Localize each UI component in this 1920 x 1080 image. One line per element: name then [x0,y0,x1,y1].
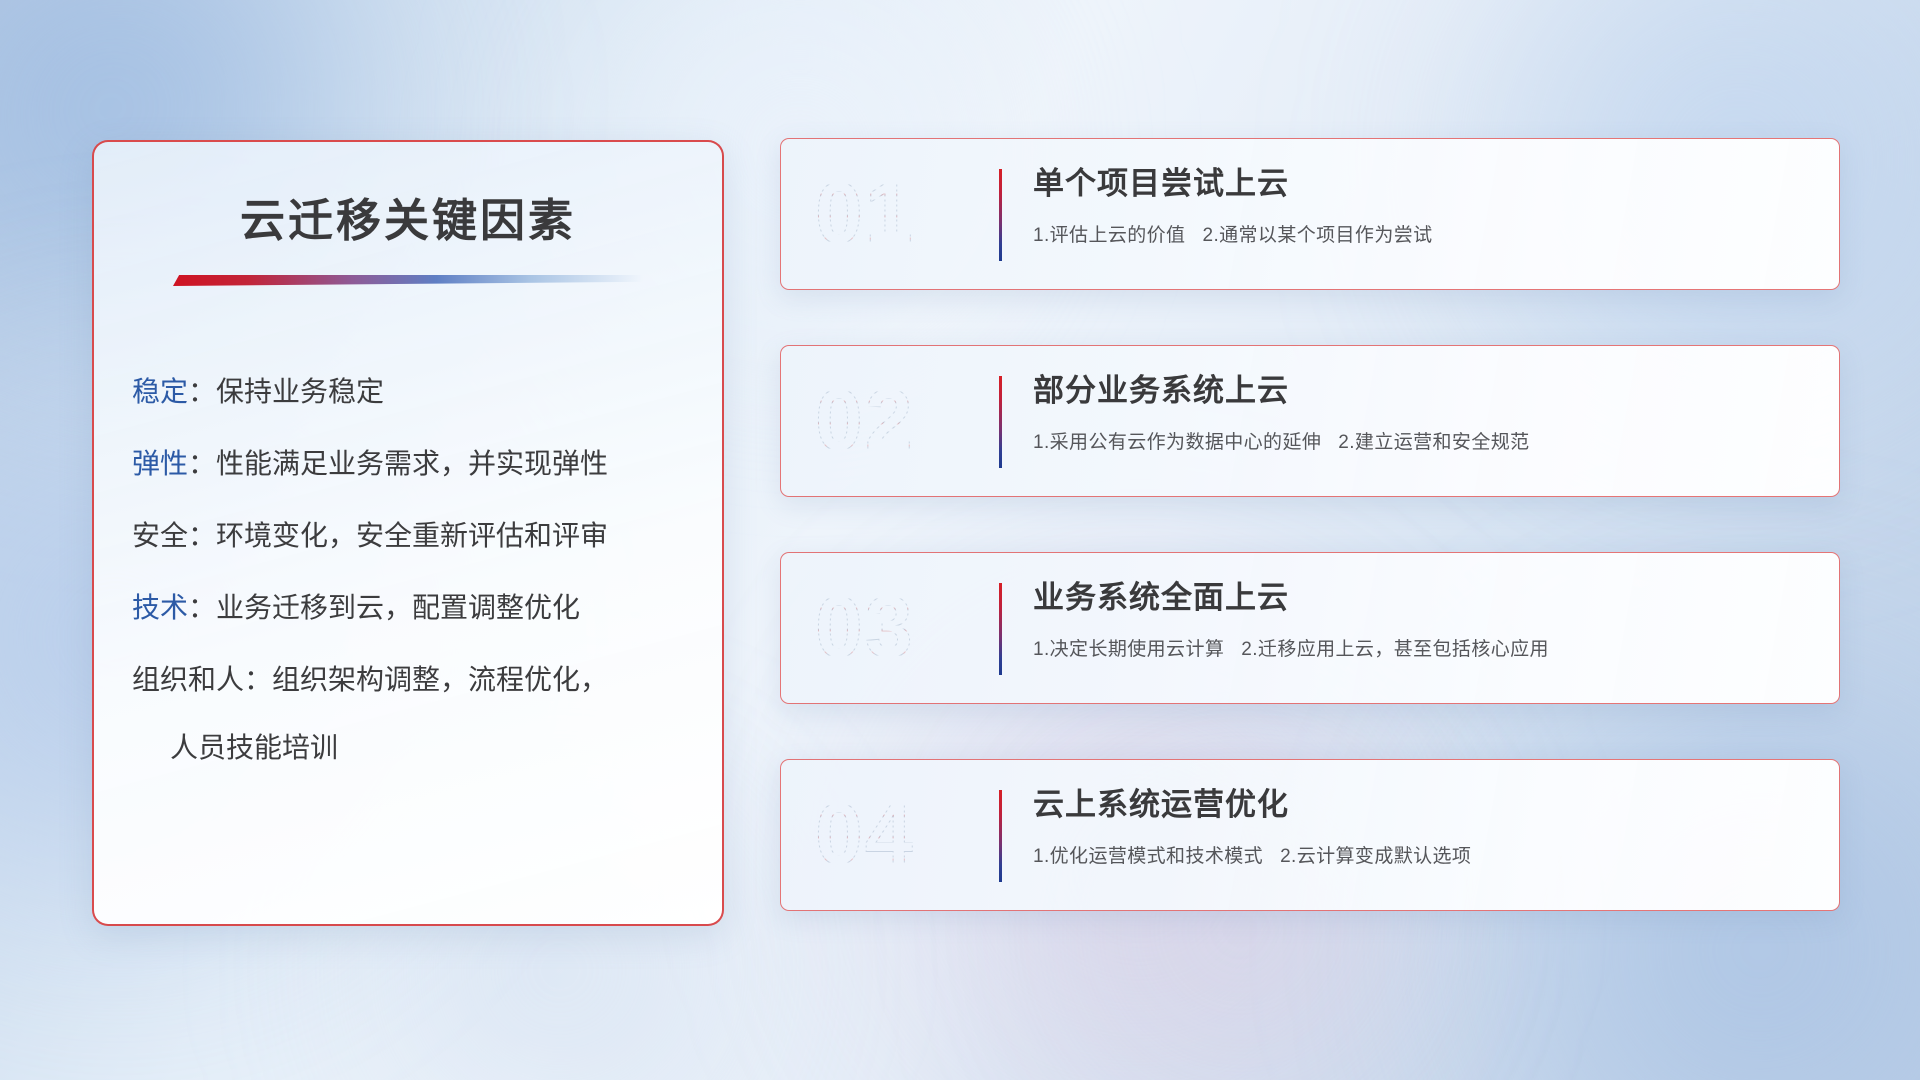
card-divider-gradient [999,169,1002,261]
factor-text: 环境变化，安全重新评估和评审 [216,522,608,550]
stage-card-04[interactable]: 04 04 云上系统运营优化 1.优化运营模式和技术模式 2.云计算变成默认选项 [780,759,1840,911]
stage-number-03-tint: 03 [815,579,915,678]
card-divider-gradient [999,790,1002,882]
factor-text: 性能满足业务需求，并实现弹性 [216,450,608,478]
factor-colon: ： [188,522,216,550]
stage-number-04-tint: 04 [815,786,915,885]
factor-label: 安全 [132,522,188,550]
factor-text: 业务迁移到云，配置调整优化 [216,594,580,622]
page-title: 云迁移关键因素 [94,184,722,249]
stage-card-01[interactable]: 01 01 单个项目尝试上云 1.评估上云的价值 2.通常以某个项目作为尝试 [780,138,1840,290]
factor-label: 弹性 [132,450,188,478]
factor-label: 稳定 [132,378,188,406]
factor-list: 稳定 ： 保持业务稳定 弹性 ： 性能满足业务需求，并实现弹性 安全 ： 环境变… [132,378,722,762]
title-underline-gradient [173,275,643,286]
card-body: 部分业务系统上云 1.采用公有云作为数据中心的延伸 2.建立运营和安全规范 [1033,372,1813,454]
card-body: 业务系统全面上云 1.决定长期使用云计算 2.迁移应用上云，甚至包括核心应用 [1033,579,1813,661]
factor-row-stability: 稳定 ： 保持业务稳定 [132,378,722,406]
card-title: 单个项目尝试上云 [1033,165,1813,204]
factor-colon: ： [244,666,272,694]
factor-text: 保持业务稳定 [216,378,384,406]
card-detail: 1.决定长期使用云计算 2.迁移应用上云，甚至包括核心应用 [1033,634,1813,661]
card-title: 业务系统全面上云 [1033,579,1813,618]
key-factors-panel: 云迁移关键因素 稳定 ： 保持业务稳定 弹性 ： 性能满足业务需求，并实现弹性 … [92,140,724,926]
factor-text-continuation: 人员技能培训 [170,734,722,762]
card-title: 云上系统运营优化 [1033,786,1813,825]
factor-label: 技术 [132,594,188,622]
factor-label: 组织和人 [132,666,244,694]
card-detail: 1.采用公有云作为数据中心的延伸 2.建立运营和安全规范 [1033,427,1813,454]
factor-row-technology: 技术 ： 业务迁移到云，配置调整优化 [132,594,722,622]
card-divider-gradient [999,376,1002,468]
card-body: 单个项目尝试上云 1.评估上云的价值 2.通常以某个项目作为尝试 [1033,165,1813,247]
card-detail: 1.评估上云的价值 2.通常以某个项目作为尝试 [1033,220,1813,247]
factor-colon: ： [188,594,216,622]
slide-stage: 云迁移关键因素 稳定 ： 保持业务稳定 弹性 ： 性能满足业务需求，并实现弹性 … [0,0,1920,1080]
card-body: 云上系统运营优化 1.优化运营模式和技术模式 2.云计算变成默认选项 [1033,786,1813,868]
factor-colon: ： [188,378,216,406]
factor-row-security: 安全 ： 环境变化，安全重新评估和评审 [132,522,722,550]
stage-number-02-tint: 02 [815,372,915,471]
stage-card-02[interactable]: 02 02 部分业务系统上云 1.采用公有云作为数据中心的延伸 2.建立运营和安… [780,345,1840,497]
card-divider-gradient [999,583,1002,675]
stage-card-list: 01 01 单个项目尝试上云 1.评估上云的价值 2.通常以某个项目作为尝试 0… [780,138,1840,911]
factor-row-organization: 组织和人 ： 组织架构调整，流程优化， [132,666,722,694]
factor-row-elasticity: 弹性 ： 性能满足业务需求，并实现弹性 [132,450,722,478]
card-detail: 1.优化运营模式和技术模式 2.云计算变成默认选项 [1033,841,1813,868]
factor-text: 组织架构调整，流程优化， [272,666,608,694]
card-title: 部分业务系统上云 [1033,372,1813,411]
stage-card-03[interactable]: 03 03 业务系统全面上云 1.决定长期使用云计算 2.迁移应用上云，甚至包括… [780,552,1840,704]
stage-number-01-tint: 01 [815,165,915,264]
factor-colon: ： [188,450,216,478]
